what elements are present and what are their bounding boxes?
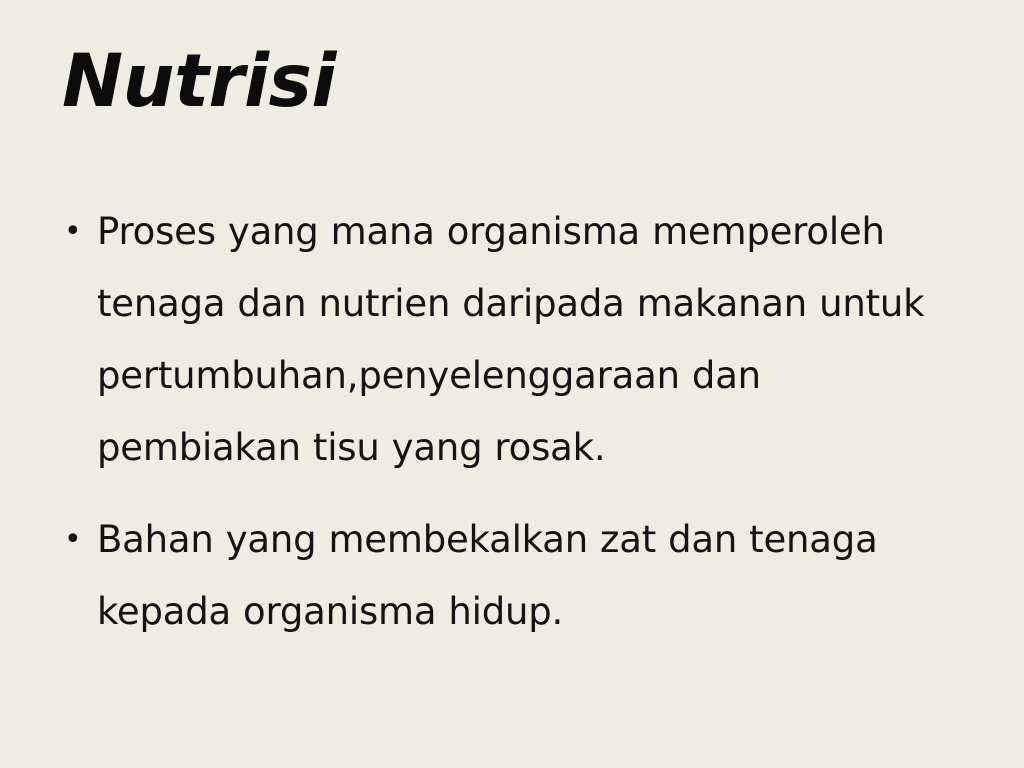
bullet-point-icon: • xyxy=(64,504,88,576)
list-item: • Bahan yang membekalkan zat dan tenaga … xyxy=(56,504,976,648)
list-item-text: Bahan yang membekalkan zat dan tenaga ke… xyxy=(97,504,976,648)
bullet-point-icon: • xyxy=(64,196,88,268)
list-item-text: Proses yang mana organisma memperoleh te… xyxy=(97,196,976,484)
presentation-slide: Nutrisi • Proses yang mana organisma mem… xyxy=(0,0,1024,768)
bullet-list: • Proses yang mana organisma memperoleh … xyxy=(56,196,976,648)
list-item: • Proses yang mana organisma memperoleh … xyxy=(56,196,976,484)
page-title: Nutrisi xyxy=(62,44,962,121)
